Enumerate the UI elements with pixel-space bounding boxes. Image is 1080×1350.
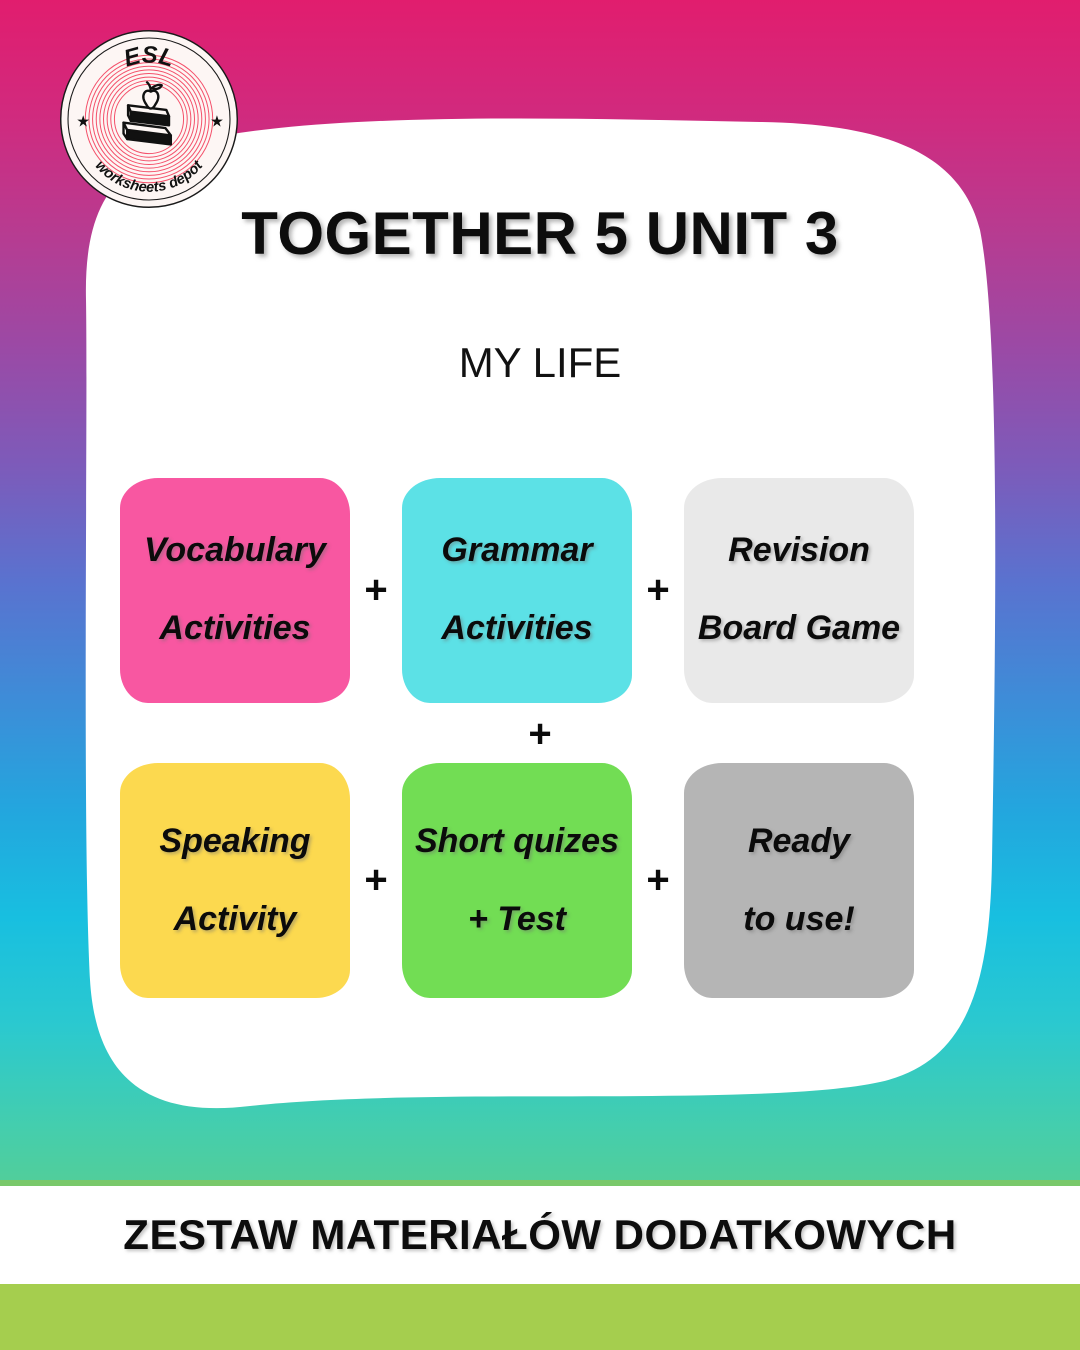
tile-line-1: Ready: [748, 824, 850, 860]
tile-line-2: Activities: [441, 611, 592, 647]
tile-short-quizes-test[interactable]: Short quizes + Test: [402, 763, 632, 998]
plus-separator: +: [350, 858, 402, 903]
tile-line-1: Revision: [728, 533, 870, 569]
plus-separator: +: [632, 858, 684, 903]
tile-line-1: Short quizes: [415, 824, 619, 860]
star-right-icon: ★: [210, 113, 224, 130]
tile-ready-to-use[interactable]: Ready to use!: [684, 763, 914, 998]
footer-label: ZESTAW MATERIAŁÓW DODATKOWYCH: [123, 1211, 956, 1259]
tile-grammar-activities[interactable]: Grammar Activities: [402, 478, 632, 703]
poster-canvas: ★ ★ ESL worksheets depot TOGETHER 5 UNIT…: [0, 0, 1080, 1350]
tile-vocabulary-activities[interactable]: Vocabulary Activities: [120, 478, 350, 703]
tile-revision-board-game[interactable]: Revision Board Game: [684, 478, 914, 703]
tiles-row-1: Vocabulary Activities + Grammar Activiti…: [120, 470, 960, 710]
brand-logo: ★ ★ ESL worksheets depot: [58, 28, 240, 210]
plus-separator-middle: +: [120, 712, 960, 757]
tile-line-2: Board Game: [698, 611, 900, 647]
tiles-row-2: Speaking Activity + Short quizes + Test …: [120, 753, 960, 1008]
tile-line-2: + Test: [468, 902, 566, 938]
plus-separator: +: [350, 568, 402, 613]
tile-line-1: Grammar: [441, 533, 592, 569]
tile-line-1: Vocabulary: [144, 533, 326, 569]
logo-top-text: ESL: [121, 43, 177, 73]
footer-band-green-bottom: [0, 1284, 1080, 1350]
tile-line-2: Activity: [174, 902, 297, 938]
tile-line-2: to use!: [743, 902, 854, 938]
star-left-icon: ★: [76, 113, 90, 130]
tile-speaking-activity[interactable]: Speaking Activity: [120, 763, 350, 998]
tile-line-1: Speaking: [159, 824, 310, 860]
plus-separator: +: [632, 568, 684, 613]
tile-line-2: Activities: [159, 611, 310, 647]
footer-bar: ZESTAW MATERIAŁÓW DODATKOWYCH: [0, 1186, 1080, 1284]
page-subtitle: MY LIFE: [0, 339, 1080, 387]
